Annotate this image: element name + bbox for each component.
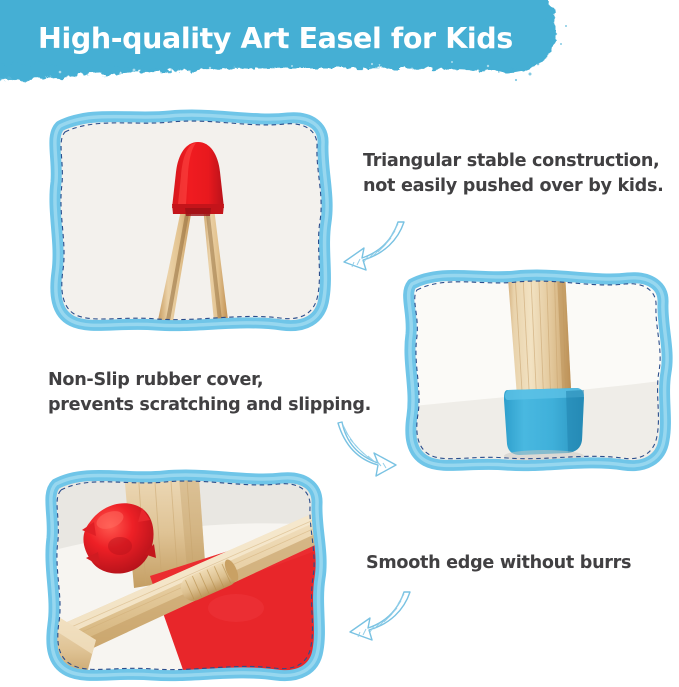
caption-triangular-stable-construction: Triangular stable construction, not easi… [363, 149, 673, 199]
curved-ribbon-arrow-icon [344, 222, 404, 270]
tripod-photo-content [42, 96, 342, 348]
header-banner: High-quality Art Easel for Kids [0, 0, 679, 92]
photo-panel-smooth-edge [38, 458, 346, 684]
photo-panel-tripod [42, 96, 342, 348]
caption-smooth-edge-without-burrs: Smooth edge without burrs [366, 551, 666, 576]
curved-ribbon-arrow-icon [338, 422, 396, 476]
photo-panel-rubber-foot [396, 258, 679, 490]
page-title: High-quality Art Easel for Kids [38, 17, 538, 61]
arrow-to-frame-edge-panel [336, 588, 416, 648]
smooth-edge-photo-content [34, 458, 346, 684]
product-feature-infographic: High-quality Art Easel for Kids [0, 0, 679, 687]
caption-non-slip-rubber-cover: Non-Slip rubber cover, prevents scratchi… [48, 368, 398, 418]
rubber-foot-photo-content [396, 252, 679, 490]
curved-ribbon-arrow-icon [350, 592, 410, 640]
arrow-to-smooth-edge-panel [336, 418, 416, 478]
